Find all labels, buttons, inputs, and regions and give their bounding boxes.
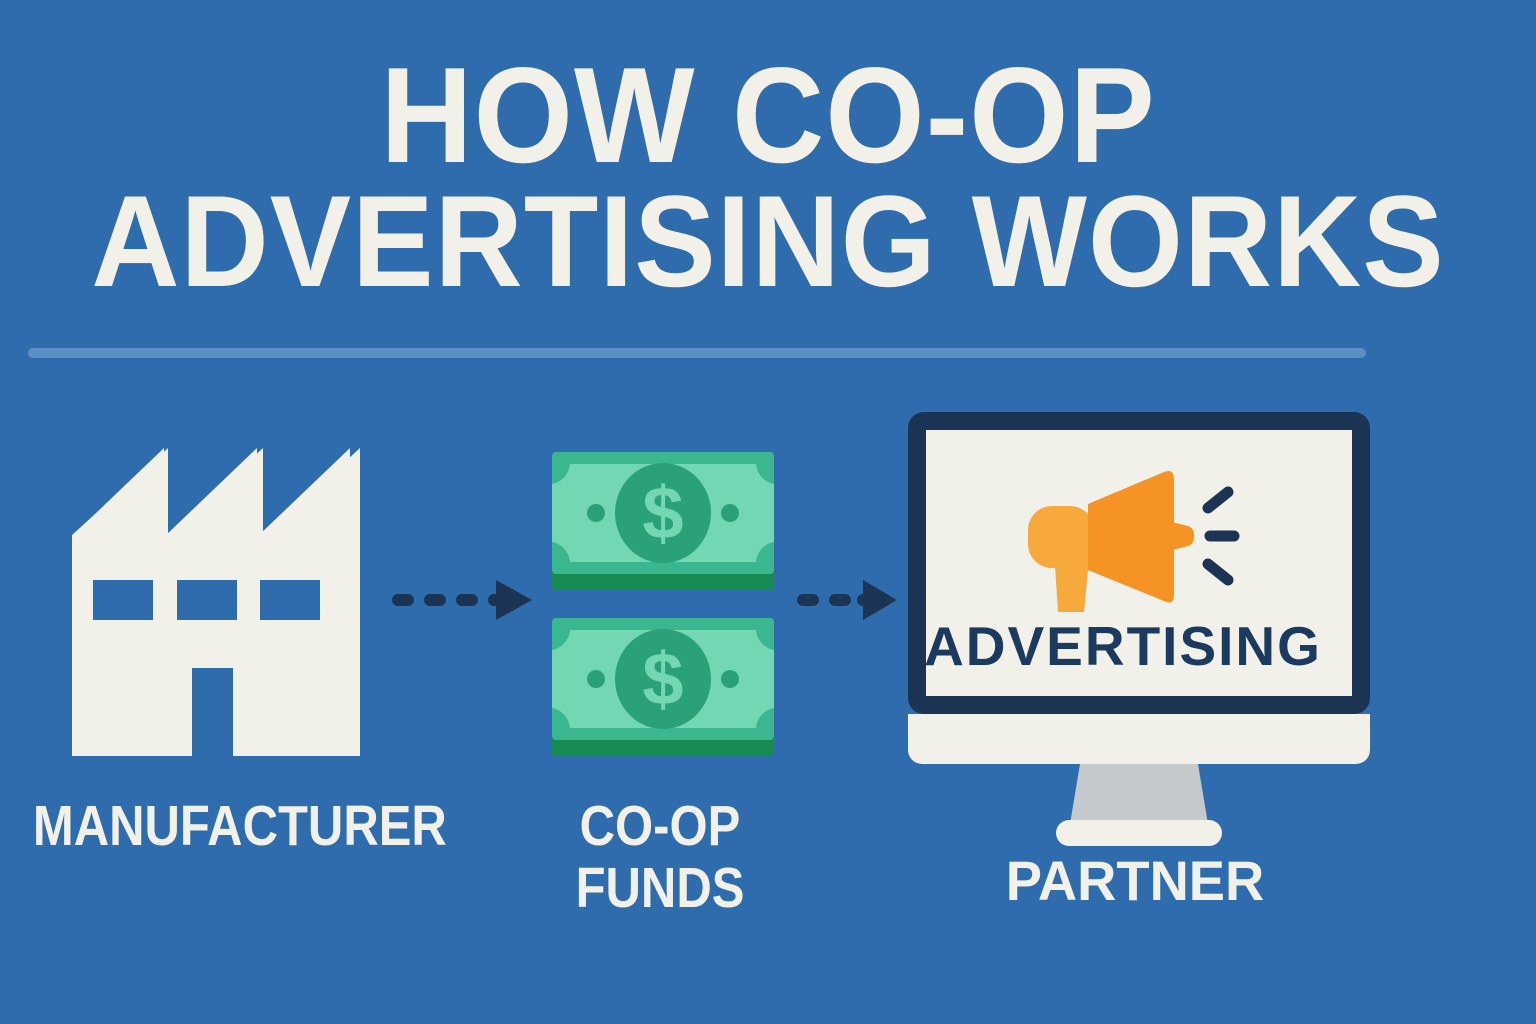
caption-co-op-funds: CO-OP FUNDS xyxy=(479,795,840,919)
money-stack-icon: $ xyxy=(548,452,798,767)
page-title: HOW CO-OP ADVERTISING WORKS xyxy=(0,52,1536,304)
sound-line-1 xyxy=(1208,492,1228,508)
monitor-chin xyxy=(908,714,1370,764)
monitor-stand-neck xyxy=(1070,764,1208,824)
screen-label-advertising: ADVERTISING xyxy=(908,614,1338,678)
arrow-head xyxy=(863,580,897,620)
arrow-dash xyxy=(797,594,819,606)
factory-silhouette xyxy=(60,440,380,770)
desktop-monitor-icon: ADVERTISING xyxy=(908,412,1378,867)
arrow-funds-to-partner xyxy=(797,578,897,624)
megaphone-horn xyxy=(1088,471,1174,602)
arrow-manufacturer-to-funds xyxy=(392,578,532,624)
title-line-2: ADVERTISING WORKS xyxy=(46,178,1490,304)
title-divider-rule xyxy=(28,348,1366,358)
arrow-head xyxy=(496,580,532,620)
arrow-dash xyxy=(456,594,478,606)
megaphone-sound-lines xyxy=(1208,492,1234,580)
infographic-canvas: HOW CO-OP ADVERTISING WORKS MANUFACTURER xyxy=(0,0,1536,1024)
arrow-dash xyxy=(392,594,414,606)
sound-line-3 xyxy=(1208,564,1228,580)
monitor-stand-base xyxy=(1056,820,1222,846)
title-line-1: HOW CO-OP xyxy=(46,52,1490,178)
factory-window-3 xyxy=(260,580,320,620)
factory-window-1 xyxy=(93,580,153,620)
megaphone-icon xyxy=(1018,464,1248,619)
banknote-bottom xyxy=(552,618,774,756)
arrow-dash xyxy=(829,594,851,606)
caption-partner: PARTNER xyxy=(917,850,1354,912)
megaphone-nub xyxy=(1172,522,1194,550)
factory-window-2 xyxy=(177,580,237,620)
banknote-top xyxy=(552,452,774,590)
megaphone-body xyxy=(1028,506,1094,568)
arrow-dash xyxy=(424,594,446,606)
caption-manufacturer: MANUFACTURER xyxy=(33,795,437,857)
